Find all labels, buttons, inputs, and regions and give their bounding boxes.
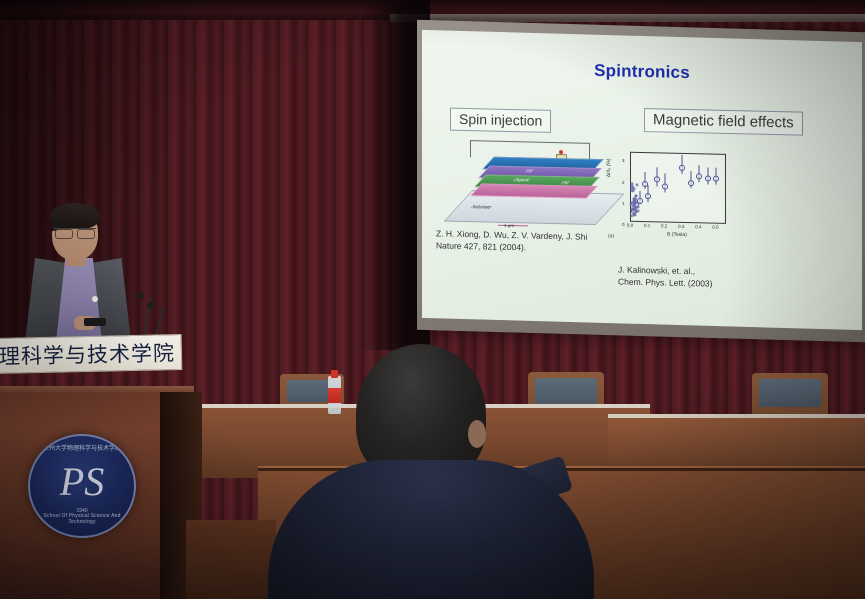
institution-emblem: 兰州大学物理科学与技术学院 PS 1940 School Of Physical… bbox=[28, 434, 136, 538]
chart-data-point bbox=[645, 193, 651, 199]
chart-data-point bbox=[637, 198, 643, 204]
chart-corner-label: (a) bbox=[608, 233, 614, 239]
desk-left-lower bbox=[186, 520, 276, 599]
chart-x-tick-label: 0.1 bbox=[644, 223, 650, 228]
chart-data-point bbox=[654, 177, 660, 183]
institution-banner-text: 理科学与技术学院 bbox=[0, 337, 175, 371]
chart-x-tick-label: 0.3 bbox=[678, 224, 684, 229]
scale-bar-label: 1 µm bbox=[504, 223, 514, 228]
citation-left: Z. H. Xiong, D. Wu, Z. V. Vardeny, J. Sh… bbox=[436, 227, 587, 255]
chart-data-point bbox=[696, 173, 702, 179]
speaker-badge bbox=[92, 296, 98, 302]
chart-data-point bbox=[705, 176, 711, 182]
seat-cushion bbox=[535, 378, 597, 406]
device-layer-fm-lower bbox=[470, 183, 598, 198]
citation-right: J. Kalinowski, et. al., Chem. Phys. Lett… bbox=[618, 263, 713, 290]
circuit-indicator bbox=[559, 150, 563, 154]
projected-slide: Spintronics Spin injection Magnetic fiel… bbox=[422, 30, 862, 330]
chart-x-tick-label: 0.0 bbox=[627, 223, 633, 228]
chart-data-point bbox=[633, 213, 636, 216]
chart-x-axis-label: B (Tesla) bbox=[667, 232, 687, 238]
institution-banner: 理科学与技术学院 bbox=[0, 334, 182, 374]
water-bottle bbox=[328, 368, 341, 414]
presentation-clicker bbox=[84, 318, 106, 326]
chart-data-point bbox=[633, 188, 636, 191]
chart-data-point bbox=[636, 183, 639, 186]
chart-data-point bbox=[636, 205, 639, 208]
speaker-hair bbox=[50, 203, 100, 229]
bottle-cap bbox=[331, 370, 338, 378]
chart-x-tick-label: 0.2 bbox=[661, 223, 667, 228]
chart-data-point bbox=[630, 208, 633, 211]
chart-y-tick-label: 1 bbox=[622, 201, 625, 206]
magnetic-field-effects-chart: ΔI/I₀ (%) B (Tesla) (a) 0.00.10.20.30.40… bbox=[608, 147, 732, 244]
emblem-ring-text: School Of Physical Science And Technolog… bbox=[30, 513, 134, 525]
microphone-icon bbox=[147, 302, 154, 309]
panel-header-spin-injection: Spin injection bbox=[450, 108, 551, 133]
emblem-monogram: PS bbox=[60, 462, 104, 502]
chart-plot-area bbox=[630, 152, 726, 224]
emblem-top-text: 兰州大学物理科学与技术学院 bbox=[30, 443, 134, 452]
spin-injection-device-diagram: FM Organic FM Substrate 1 µm bbox=[452, 138, 624, 234]
chart-y-tick-label: 2 bbox=[622, 180, 625, 185]
chart-data-point bbox=[634, 194, 637, 197]
chart-x-tick-label: 0.4 bbox=[695, 224, 701, 229]
chart-y-tick-label: 0 bbox=[622, 222, 625, 227]
bottle-label bbox=[328, 388, 341, 403]
chart-data-point bbox=[636, 210, 639, 213]
chart-data-point bbox=[662, 183, 668, 189]
audience-ear bbox=[468, 420, 486, 448]
microphone-icon bbox=[137, 292, 144, 299]
lecture-hall-photo: Spintronics Spin injection Magnetic fiel… bbox=[0, 0, 865, 599]
chart-y-tick-label: 3 bbox=[622, 158, 625, 163]
chart-data-point bbox=[679, 164, 685, 170]
eyeglasses-icon bbox=[54, 228, 96, 238]
chart-x-tick-label: 0.5 bbox=[712, 225, 718, 230]
auditorium-seat bbox=[752, 373, 828, 415]
panel-header-magnetic-field-effects: Magnetic field effects bbox=[644, 108, 803, 136]
chart-data-point bbox=[713, 176, 719, 182]
chart-data-point bbox=[688, 180, 694, 186]
seat-cushion bbox=[759, 379, 821, 407]
slide-title: Spintronics bbox=[422, 57, 862, 87]
chart-y-axis-label: ΔI/I₀ (%) bbox=[606, 158, 612, 177]
chart-data-point bbox=[633, 201, 636, 204]
